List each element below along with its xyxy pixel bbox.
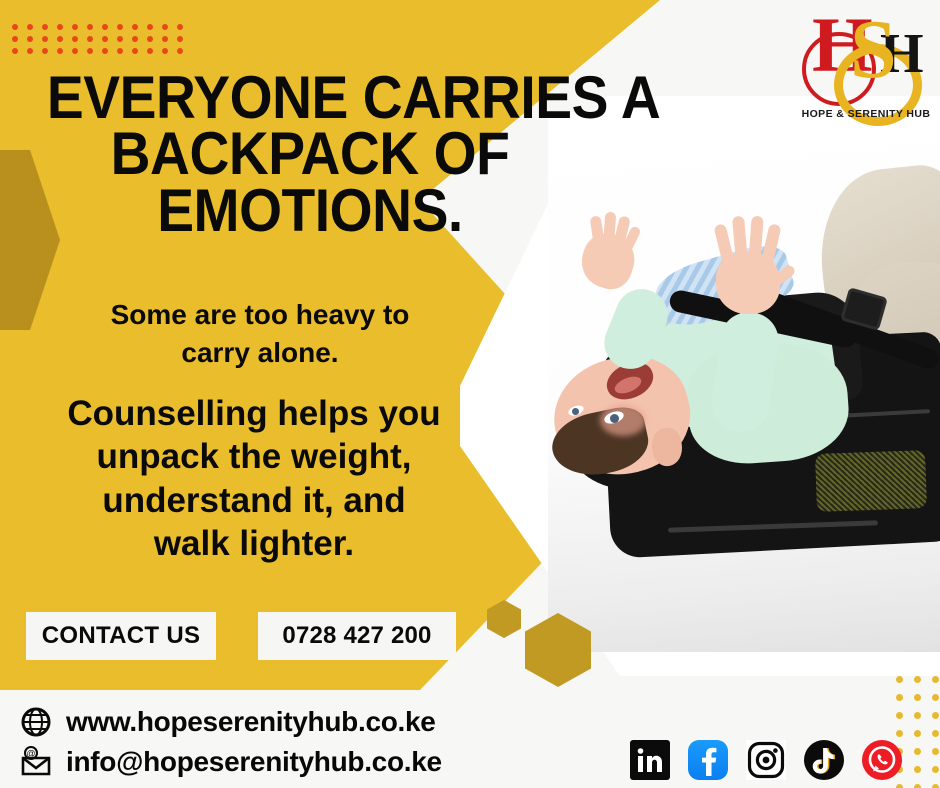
body-line-3: understand it, and xyxy=(14,479,494,522)
linkedin-icon[interactable] xyxy=(630,740,670,780)
brand-logo: H H S HOPE & SERENITY HUB xyxy=(798,4,934,136)
website-text[interactable]: www.hopeserenityhub.co.ke xyxy=(66,702,436,742)
gold-dot-grid xyxy=(896,676,940,788)
whatsapp-icon[interactable] xyxy=(862,740,902,780)
photo-illustration xyxy=(548,112,940,652)
tiktok-icon[interactable] xyxy=(804,740,844,780)
subheadline-line-1: Some are too heavy to xyxy=(34,296,486,334)
baby-pupil-right xyxy=(610,414,619,423)
svg-text:@: @ xyxy=(26,749,35,759)
body-copy: Counselling helps you unpack the weight,… xyxy=(14,392,494,566)
subheadline-line-2: carry alone. xyxy=(34,334,486,372)
contact-details: www.hopeserenityhub.co.ke @ info@hopeser… xyxy=(20,702,442,782)
contact-us-button[interactable]: CONTACT US xyxy=(26,612,216,660)
social-links xyxy=(630,740,902,780)
logo-letter-s-gold: S xyxy=(850,8,897,92)
facebook-icon[interactable] xyxy=(688,740,728,780)
red-dot-grid xyxy=(12,18,192,54)
headline-line-1: EVERYONE CARRIES A xyxy=(47,70,573,126)
website-row[interactable]: www.hopeserenityhub.co.ke xyxy=(20,702,442,742)
backpack-mesh-pocket xyxy=(815,450,927,512)
logo-caption: HOPE & SERENITY HUB xyxy=(798,108,934,120)
poster-canvas: H H S HOPE & SERENITY HUB EVERYONE CARRI… xyxy=(0,0,940,788)
email-text[interactable]: info@hopeserenityhub.co.ke xyxy=(66,742,442,782)
headline: EVERYONE CARRIES A BACKPACK OF EMOTIONS. xyxy=(47,70,573,239)
baby-hand-right xyxy=(716,252,780,314)
body-line-2: unpack the weight, xyxy=(14,435,494,478)
hero-photo xyxy=(548,112,940,652)
body-line-1: Counselling helps you xyxy=(14,392,494,435)
headline-line-3: EMOTIONS. xyxy=(47,183,573,239)
body-line-4: walk lighter. xyxy=(14,522,494,565)
logo-mark: H H S xyxy=(798,4,934,108)
instagram-icon[interactable] xyxy=(746,740,786,780)
envelope-at-icon: @ xyxy=(20,746,52,778)
email-row[interactable]: @ info@hopeserenityhub.co.ke xyxy=(20,742,442,782)
baby-pupil-left xyxy=(572,408,579,415)
phone-number-button[interactable]: 0728 427 200 xyxy=(258,612,456,660)
globe-icon xyxy=(20,706,52,738)
headline-line-2: BACKPACK OF xyxy=(47,126,573,182)
subheadline: Some are too heavy to carry alone. xyxy=(34,296,486,372)
